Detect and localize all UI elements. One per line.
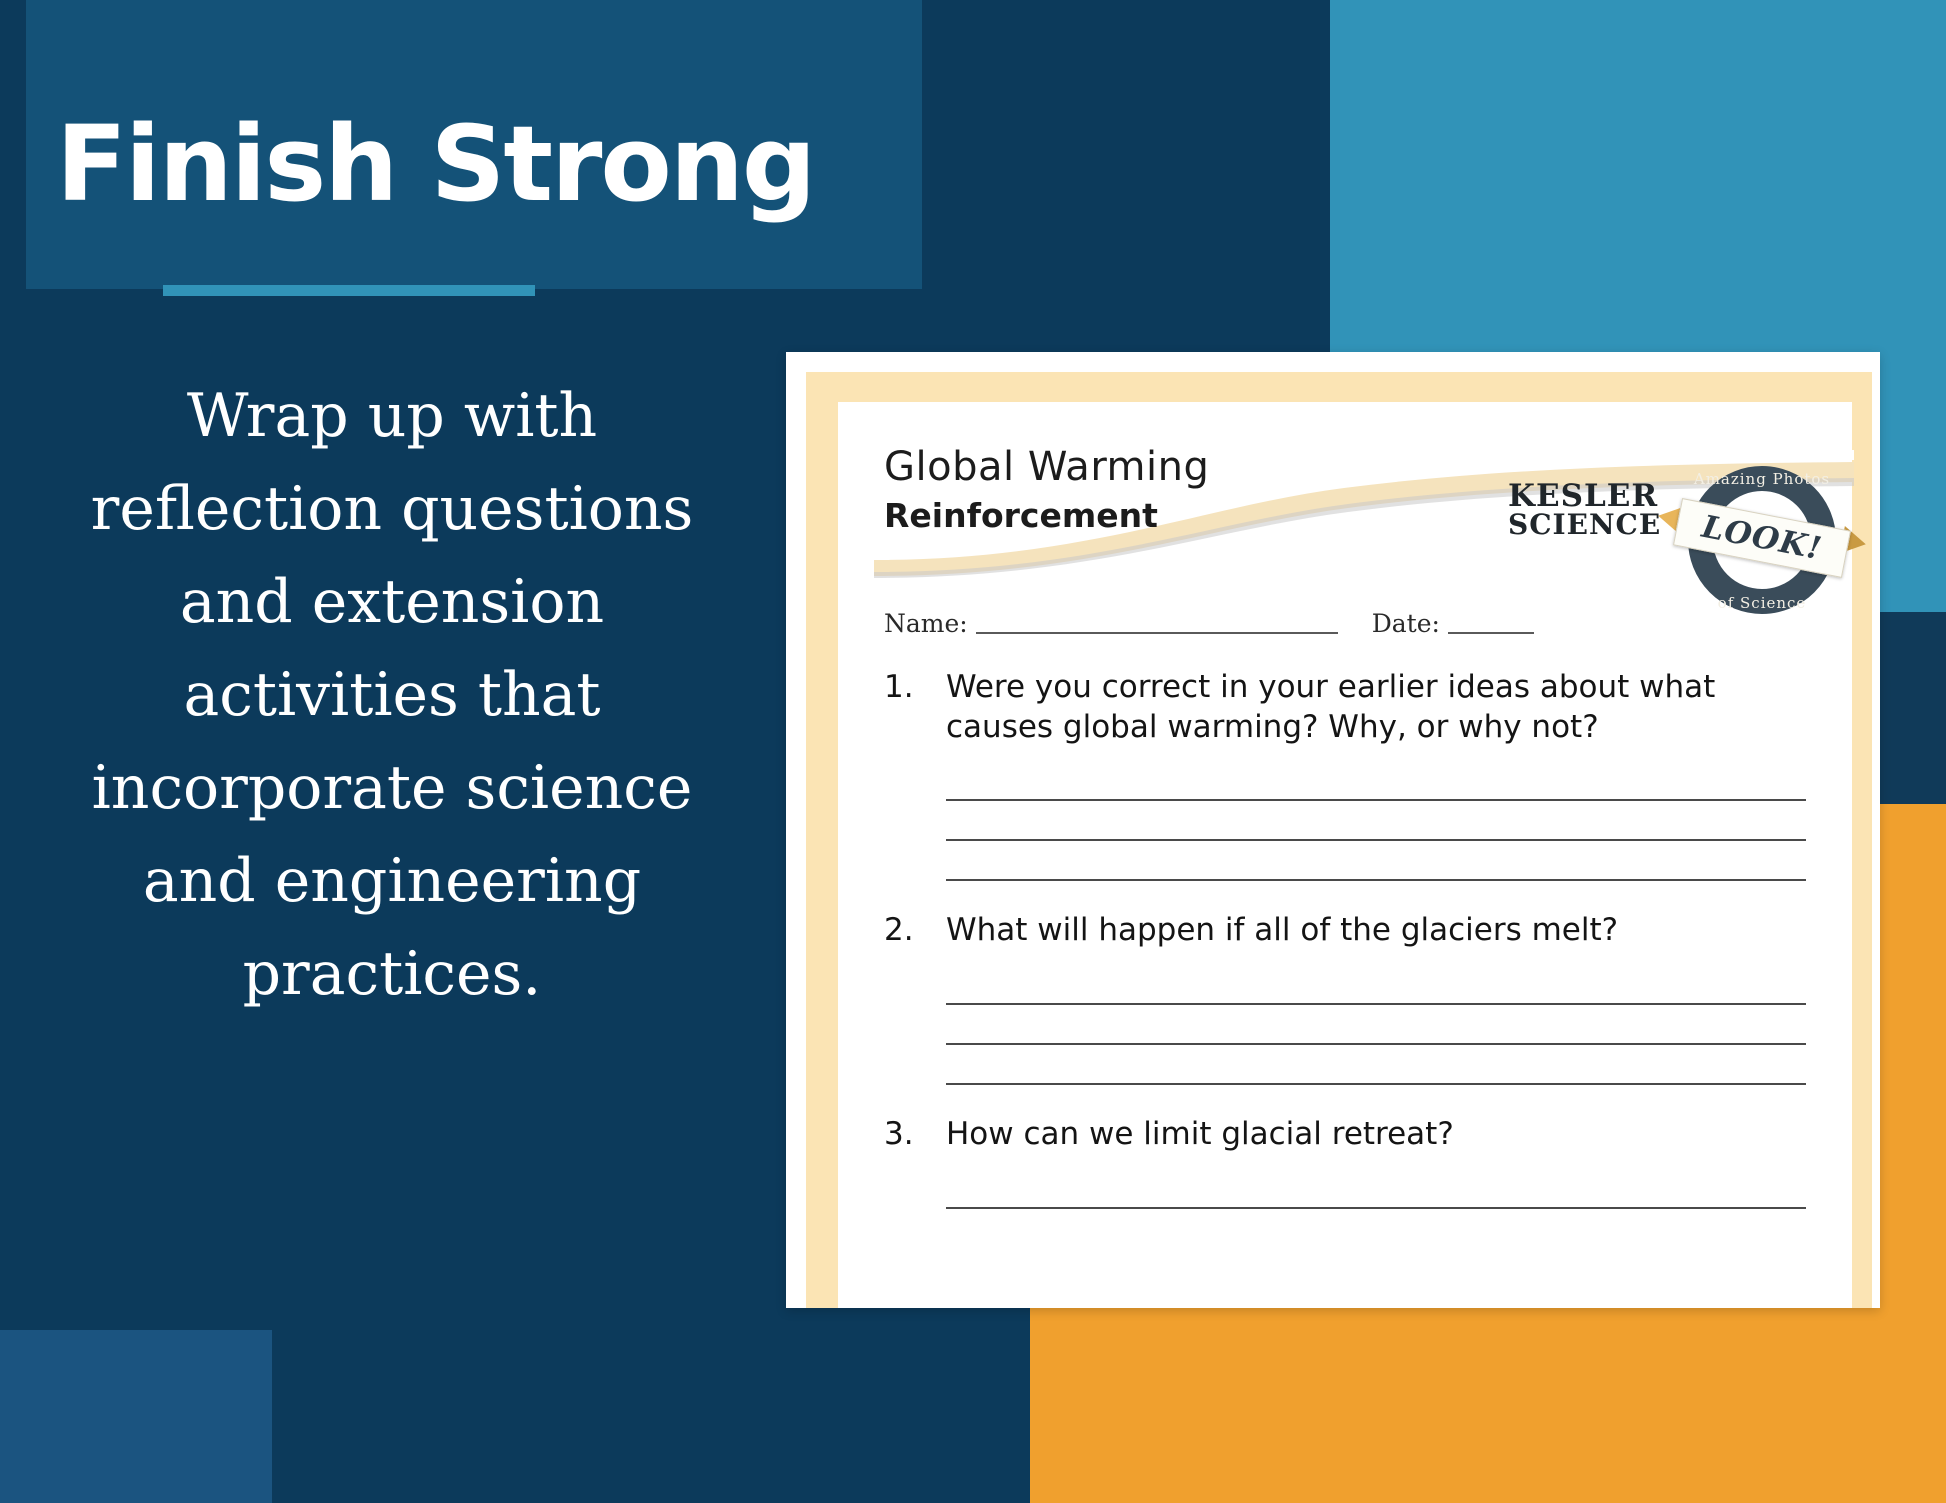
answer-lines [946, 761, 1806, 881]
kesler-science-logo: KESLER SCIENCE [1508, 482, 1640, 539]
question-text: Were you correct in your earlier ideas a… [946, 668, 1806, 747]
worksheet-question-3: 3. How can we limit glacial retreat? [884, 1115, 1806, 1209]
answer-lines [946, 1169, 1806, 1209]
question-text: How can we limit glacial retreat? [946, 1115, 1806, 1155]
decorative-navy-edge-block [1880, 612, 1946, 804]
badge-arc-top-text: Amazing Photos [1674, 470, 1850, 488]
answer-line [946, 761, 1806, 801]
worksheet-question-1: 1. Were you correct in your earlier idea… [884, 668, 1806, 881]
kesler-logo-line2: SCIENCE [1508, 512, 1640, 539]
presentation-slide: Finish Strong Wrap up with reflection qu… [0, 0, 1946, 1503]
worksheet-outer-border: Global Warming Reinforcement KESLER SCIE… [806, 372, 1872, 1308]
answer-line [946, 801, 1806, 841]
answer-lines [946, 965, 1806, 1085]
worksheet-question-2: 2. What will happen if all of the glacie… [884, 911, 1806, 1085]
answer-line [946, 1045, 1806, 1085]
answer-line [946, 1005, 1806, 1045]
slide-body-text: Wrap up with reflection questions and ex… [64, 370, 720, 1021]
answer-line [946, 965, 1806, 1005]
question-number: 3. [884, 1115, 946, 1155]
worksheet-inner-page: Global Warming Reinforcement KESLER SCIE… [838, 402, 1852, 1308]
name-field-label: Name: [884, 609, 968, 638]
question-text: What will happen if all of the glaciers … [946, 911, 1806, 951]
question-number: 1. [884, 668, 946, 708]
worksheet-preview-image: Global Warming Reinforcement KESLER SCIE… [786, 352, 1880, 1308]
worksheet-title: Global Warming [884, 444, 1209, 490]
worksheet-header: Global Warming Reinforcement KESLER SCIE… [884, 444, 1806, 588]
decorative-blue-bottom-block [0, 1330, 272, 1503]
decorative-left-strip [0, 0, 26, 289]
answer-line [946, 841, 1806, 881]
worksheet-name-date-row: Name: Date: [884, 594, 1806, 638]
date-field-rule [1448, 632, 1534, 634]
worksheet-subtitle: Reinforcement [884, 496, 1158, 535]
name-field-rule [976, 632, 1338, 634]
date-field-label: Date: [1372, 609, 1440, 638]
page-title: Finish Strong [56, 110, 936, 219]
question-number: 2. [884, 911, 946, 951]
decorative-orange-bottom-block [1030, 1308, 1946, 1503]
answer-line [946, 1169, 1806, 1209]
worksheet-page-content: Global Warming Reinforcement KESLER SCIE… [838, 402, 1852, 1308]
title-underline-accent [163, 285, 535, 296]
